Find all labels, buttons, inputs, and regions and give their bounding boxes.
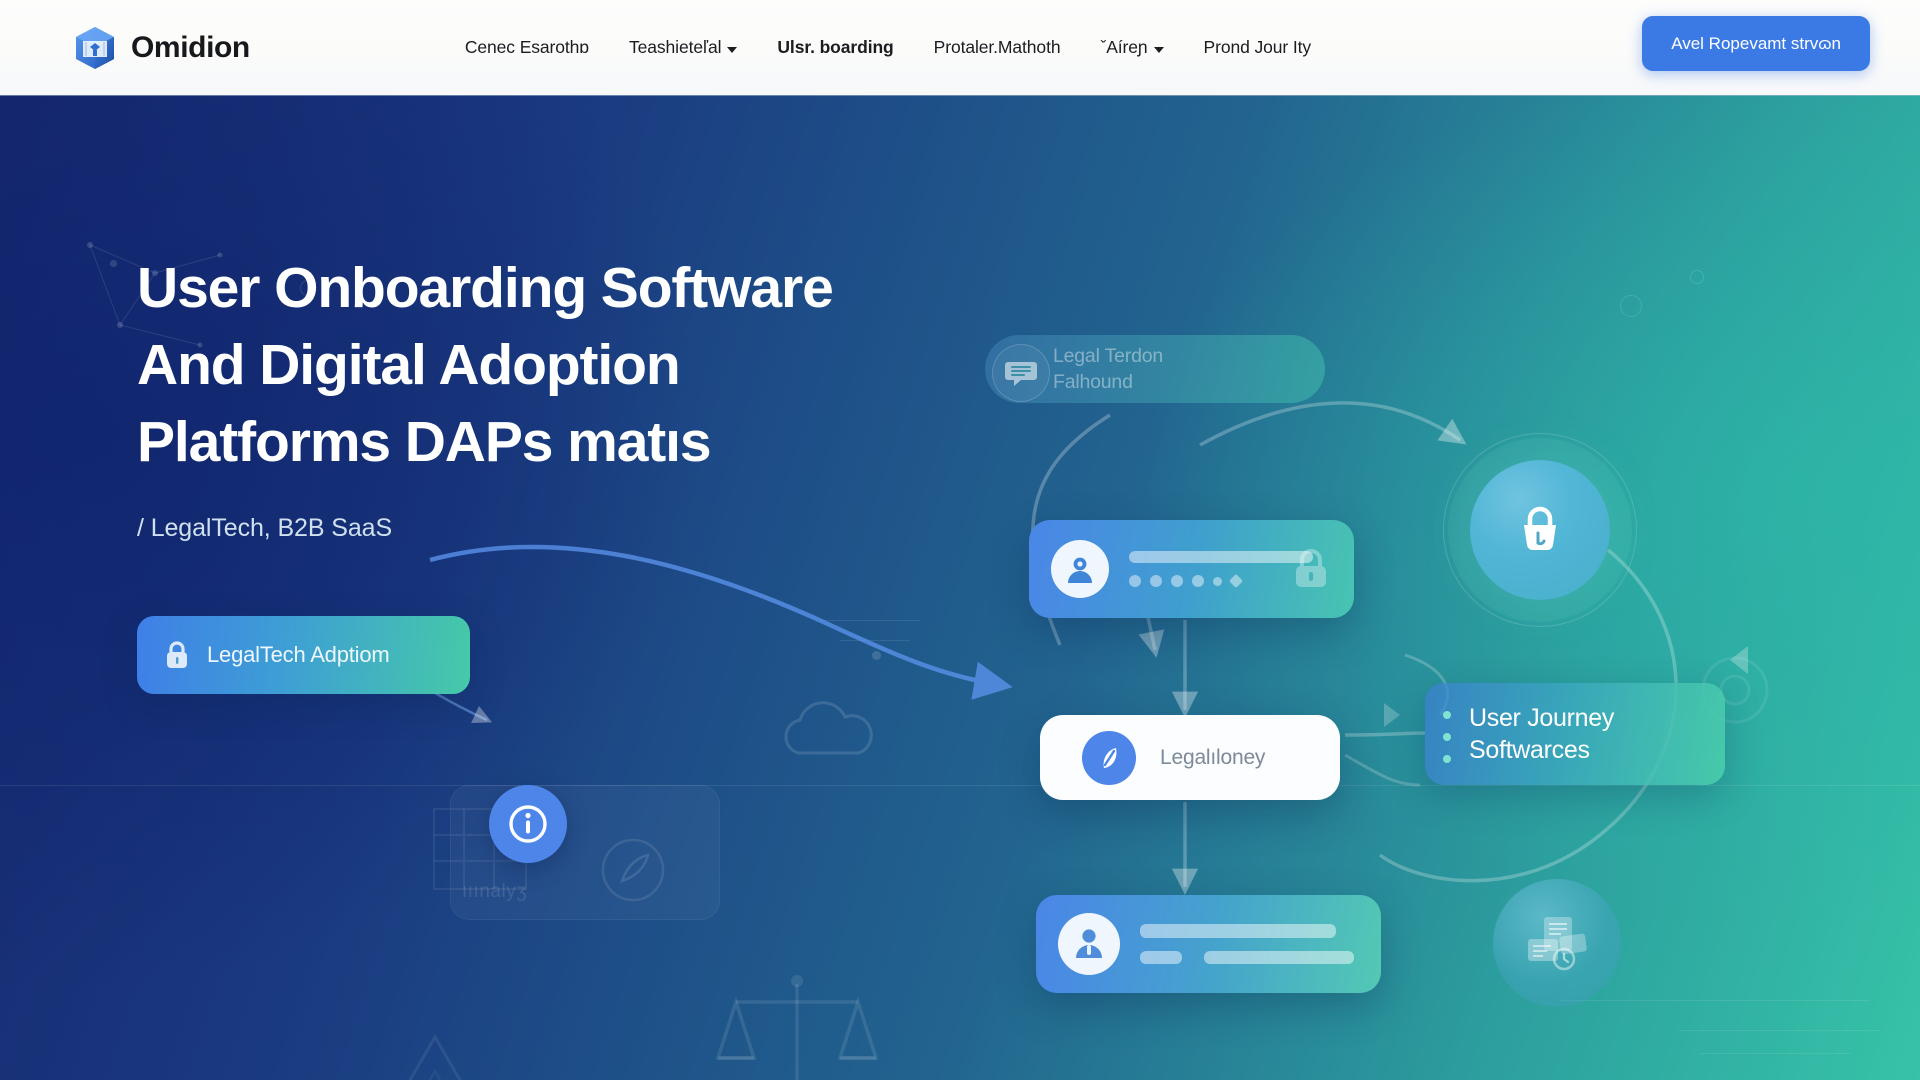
profile-card[interactable] [1036, 895, 1381, 993]
chevron-down-icon [727, 47, 737, 53]
site-header: Omidion Cenec Esarothɒ Teashieteľal Ulsr… [0, 0, 1920, 95]
credential-skeleton [1129, 551, 1313, 587]
nav-item-5[interactable]: ˇAíreɲ [1080, 37, 1183, 58]
brand-name: Omidion [131, 31, 250, 65]
documents-node[interactable] [1493, 879, 1621, 1007]
decor-dot [110, 260, 117, 267]
heading-line-2: And Digital Adoption [137, 327, 957, 404]
user-avatar-icon [1051, 540, 1109, 598]
card-line-2: Falhound [1053, 369, 1163, 395]
divider-line [1560, 1000, 1870, 1001]
triangle-watermark [365, 1025, 505, 1080]
documents-icon [1524, 913, 1590, 973]
hero-subtitle: / LegalTech, B2B SaaS [137, 514, 957, 543]
nav-item-label: Ulsr. boarding [777, 37, 893, 58]
nav-item-label: ˇAíreɲ [1100, 37, 1147, 58]
divider-line [1680, 1030, 1880, 1031]
profile-bar-3 [1204, 951, 1354, 964]
hero-copy: User Onboarding Software And Digital Ado… [137, 250, 957, 694]
card-line-2: Softwarces [1469, 734, 1614, 766]
profile-bar-2 [1140, 951, 1182, 964]
lock-icon [1292, 547, 1330, 591]
header-cta-button[interactable]: Avel Ropevamt strvɷn [1642, 16, 1870, 71]
info-badge[interactable] [489, 785, 567, 863]
leaf-badge-icon [1082, 731, 1136, 785]
page-title: User Onboarding Software And Digital Ado… [137, 250, 957, 481]
password-dots [1129, 575, 1313, 587]
nav-item-2[interactable]: Teashieteľal [609, 37, 757, 58]
username-bar [1129, 551, 1313, 563]
card-line-1: User Journey [1469, 702, 1614, 734]
nav-item-4[interactable]: Protaler.Mathoth [914, 37, 1081, 58]
nav-item-label: Prond Jour Ity [1204, 37, 1312, 58]
card-label: Legalıloney [1160, 746, 1265, 770]
legal-money-card[interactable]: Legalıloney [1040, 715, 1340, 800]
person-icon [1058, 913, 1120, 975]
divider-line [0, 785, 1920, 786]
user-journey-card[interactable]: User Journey Softwarces [1425, 683, 1725, 785]
badge-label: LegalTech Adptiom [207, 642, 390, 668]
nav-item-label: Cenec Esarothɒ [465, 37, 589, 58]
scales-of-justice-watermark [710, 970, 885, 1080]
decor-ring [1690, 270, 1704, 284]
auth-card[interactable] [1029, 520, 1354, 618]
divider-line [1700, 1053, 1850, 1054]
heading-line-3: Platforms DAPs matıs [137, 404, 957, 481]
cube-logo-icon [74, 26, 116, 70]
card-line-1: Legal Terdon [1053, 343, 1163, 369]
legaltech-adoption-badge[interactable]: LegalTech Adptiom [137, 616, 470, 694]
lock-icon [164, 640, 190, 670]
info-circle-icon [506, 802, 550, 846]
profile-bar-1 [1140, 924, 1336, 938]
brand-logo-link[interactable]: Omidion [74, 26, 250, 70]
header-cta-label: Avel Ropevamt strvɷn [1671, 34, 1841, 54]
main-navigation: Cenec Esarothɒ Teashieteľal Ulsr. boardi… [445, 37, 1331, 58]
analytics-panel-label: ııınalyʒ [462, 881, 527, 903]
hero-section: User Onboarding Software And Digital Ado… [0, 95, 1920, 1080]
chevron-down-icon [1154, 47, 1164, 53]
nav-item-3[interactable]: Ulsr. boarding [757, 37, 913, 58]
security-node[interactable] [1470, 460, 1610, 600]
profile-skeleton [1140, 924, 1354, 964]
page-root: Omidion Cenec Esarothɒ Teashieteľal Ulsr… [0, 0, 1920, 1080]
decor-ring [1620, 295, 1642, 317]
nav-item-label: Teashieteľal [629, 37, 721, 58]
chat-lines-icon [992, 344, 1050, 402]
nav-item-6[interactable]: Prond Jour Ity [1184, 37, 1332, 58]
cloud-watermark [770, 695, 890, 775]
nav-item-label: Protaler.Mathoth [934, 37, 1061, 58]
heading-line-1: User Onboarding Software [137, 250, 957, 327]
nav-item-1[interactable]: Cenec Esarothɒ [445, 37, 609, 58]
lock-shield-icon [1514, 503, 1566, 557]
journey-bullets [1443, 711, 1451, 777]
